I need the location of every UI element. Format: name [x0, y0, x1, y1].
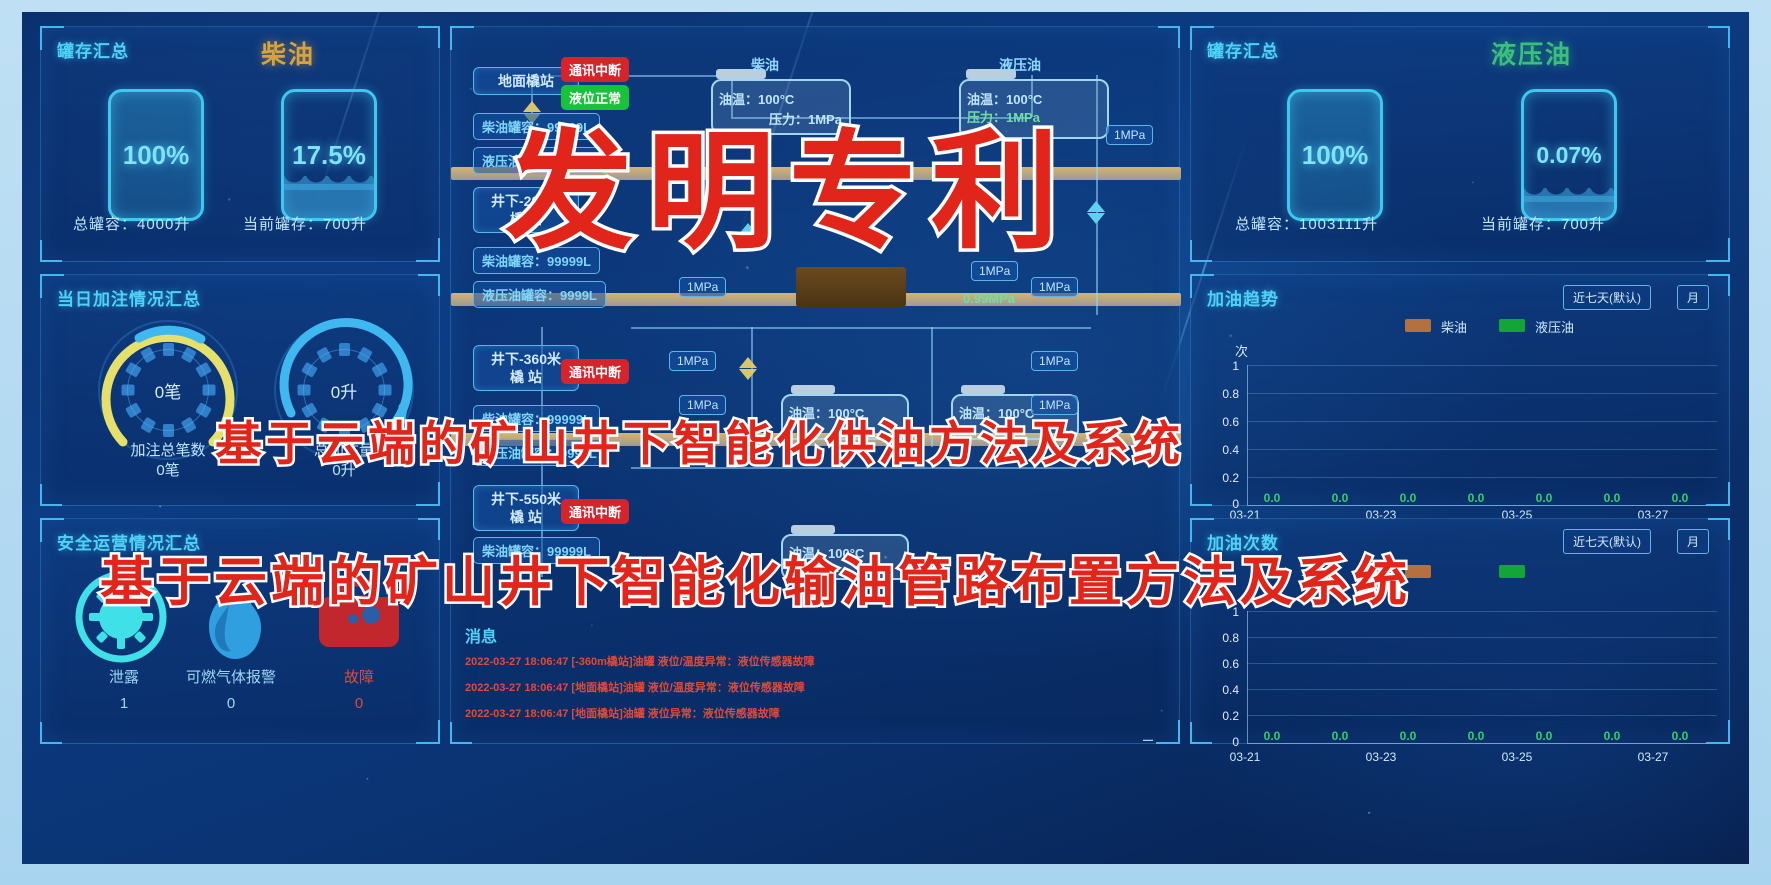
y-axis-line: [1247, 365, 1248, 505]
point-label: 0.0: [1529, 729, 1559, 743]
grid-line: [1247, 663, 1717, 664]
y-tick: 0: [1205, 735, 1239, 749]
tank-total-caption: 总罐容：4000升: [73, 213, 190, 234]
safety-label-gas-alarm: 可燃气体报警: [171, 666, 291, 687]
panel-right-tank-summary: 罐存汇总 液压油 100% 总罐容：1003111升 0.07% 当前罐存：70…: [1190, 26, 1730, 262]
tank-current-caption: 当前罐存：700升: [243, 213, 367, 234]
station-cap-hydraulic: 液压油罐容：9999L: [473, 281, 606, 308]
station-name-line2: 橇 站: [482, 368, 570, 386]
message-row: 2022-03-27 18:06:47 [地面橇站]油罐 液位异常：液位传感器故…: [465, 705, 780, 721]
grid-line: [1247, 393, 1717, 394]
pressure-tag: 1MPa: [1031, 351, 1078, 371]
product-label-hydraulic: 液压油: [1491, 35, 1572, 71]
pressure-tag: 1MPa: [1106, 125, 1153, 145]
point-label: 0.0: [1461, 729, 1491, 743]
tank-wave: [284, 176, 377, 190]
watermark-title-line-2: 基于云端的矿山井下智能化输油管路布置方法及系统: [100, 540, 1411, 616]
tank-total-capacity-right: 100%: [1287, 89, 1383, 221]
station-name-line2: 橇 站: [482, 508, 570, 526]
pipe-segment: [631, 327, 1091, 329]
pressure-tag: 1MPa: [669, 351, 716, 371]
legend-swatch-hydraulic-2: [1499, 565, 1525, 578]
pressure-tag: 1MPa: [679, 277, 726, 297]
point-label: 0.0: [1597, 491, 1627, 505]
safety-count-fault: 0: [299, 695, 419, 712]
y-tick: 1: [1205, 359, 1239, 373]
point-label: 0.0: [1325, 729, 1355, 743]
pressure-tag: 1MPa: [1031, 277, 1078, 297]
legend-swatch-hydraulic: [1499, 319, 1525, 332]
grid-line: [1247, 477, 1717, 478]
point-label: 0.0: [1393, 729, 1423, 743]
message-row: 2022-03-27 18:06:47 [地面橇站]油罐 液位/温度异常：液位传…: [465, 679, 805, 695]
point-label: 0.0: [1461, 491, 1491, 505]
range-button-month[interactable]: 月: [1677, 285, 1709, 310]
collapse-icon[interactable]: –: [1143, 729, 1153, 750]
valve-icon: [739, 357, 757, 368]
tank-total-caption-right: 总罐容：1003111升: [1235, 213, 1378, 234]
x-axis-line: [1247, 505, 1717, 506]
valve-icon: [1087, 201, 1105, 212]
point-label: 0.0: [1393, 491, 1423, 505]
legend-label-hydraulic: 液压油: [1535, 317, 1574, 336]
messages-title: 消息: [465, 623, 497, 647]
tank-current-value-right: 0.07%: [1536, 142, 1601, 169]
tank-group-label-diesel: 柴油: [751, 55, 779, 75]
station-name-line1: 井下-550米: [482, 490, 570, 508]
valve-icon: [1087, 213, 1105, 224]
station-badge-comm-loss: 通讯中断: [561, 57, 629, 82]
panel-title-tank-summary: 罐存汇总: [57, 37, 129, 62]
panel-left-tank-summary: 罐存汇总 柴油 100% 总罐容：4000升 17.5% 当前罐存：700升: [40, 26, 440, 262]
y-tick: 0.2: [1205, 709, 1239, 723]
grid-line: [1247, 689, 1717, 690]
legend-swatch-diesel: [1405, 319, 1431, 332]
panel-refuel-trend-chart: 加油趋势 近七天(默认) 月 柴油 液压油 次 1 0.8 0.6 0.4 0.…: [1190, 274, 1730, 506]
y-axis-unit-trend: 次: [1235, 341, 1248, 360]
point-label: 0.0: [1325, 491, 1355, 505]
y-tick: 0.8: [1205, 387, 1239, 401]
x-tick: 03-25: [1494, 750, 1540, 764]
y-axis-line: [1247, 611, 1248, 743]
range-button-month-2[interactable]: 月: [1677, 529, 1709, 554]
screenshot-stage: 罐存汇总 柴油 100% 总罐容：4000升 17.5% 当前罐存：700升 当…: [0, 0, 1771, 885]
x-tick: 03-23: [1358, 750, 1404, 764]
tank-wave: [1524, 188, 1617, 202]
grid-line: [1247, 715, 1717, 716]
pressure-tag-099: 0.99MPa: [963, 291, 1015, 306]
point-label: 0.0: [1597, 729, 1627, 743]
safety-label-leak: 泄露: [64, 666, 184, 687]
station-badge-comm-loss: 通讯中断: [561, 359, 629, 384]
grid-line: [1247, 449, 1717, 450]
tank-current-stock-right: 0.07%: [1521, 89, 1617, 221]
tank-current-stock: 17.5%: [281, 89, 377, 221]
tank-cap-icon: [961, 385, 1005, 394]
tank-total-capacity: 100%: [108, 89, 204, 221]
tank-cap-icon: [791, 385, 835, 394]
y-tick: 0.6: [1205, 657, 1239, 671]
station-badge-comm-loss: 通讯中断: [561, 499, 629, 524]
panel-title-tank-summary-right: 罐存汇总: [1207, 37, 1279, 62]
tank-total-value-right: 100%: [1302, 140, 1369, 171]
y-tick: 0.6: [1205, 415, 1239, 429]
tank-cap-icon: [791, 525, 835, 534]
grid-line: [1247, 637, 1717, 638]
y-tick: 0.8: [1205, 631, 1239, 645]
range-button-seven-days[interactable]: 近七天(默认): [1563, 285, 1651, 310]
safety-count-gas-alarm: 0: [171, 695, 291, 712]
ground-mound: [796, 267, 906, 307]
safety-label-fault: 故障: [299, 666, 419, 687]
safety-count-leak: 1: [64, 695, 184, 712]
watermark-title-line-1: 基于云端的矿山井下智能化供油方法及系统: [215, 405, 1184, 474]
product-label-diesel: 柴油: [261, 35, 315, 71]
x-tick: 03-27: [1630, 750, 1676, 764]
range-button-seven-days-2[interactable]: 近七天(默认): [1563, 529, 1651, 554]
x-tick: 03-21: [1222, 750, 1268, 764]
tank-current-caption-right: 当前罐存：700升: [1481, 213, 1605, 234]
point-label: 0.0: [1665, 729, 1695, 743]
tank-total-value: 100%: [123, 140, 190, 171]
station-name-line1: 井下-360米: [482, 350, 570, 368]
panel-title-daily-refuel: 当日加注情况汇总: [57, 285, 201, 310]
grid-line: [1247, 365, 1717, 366]
point-label: 0.0: [1257, 729, 1287, 743]
legend-label-diesel: 柴油: [1441, 317, 1467, 336]
watermark-patent-badge: 发明专利: [505, 88, 1073, 273]
point-label: 0.0: [1529, 491, 1559, 505]
y-tick: 0.4: [1205, 683, 1239, 697]
point-label: 0.0: [1665, 491, 1695, 505]
y-tick: 0.4: [1205, 443, 1239, 457]
panel-title-refuel-trend: 加油趋势: [1207, 285, 1279, 310]
x-axis-line: [1247, 743, 1717, 744]
valve-icon: [739, 369, 757, 380]
point-label: 0.0: [1257, 491, 1287, 505]
tank-current-value: 17.5%: [292, 140, 366, 171]
y-tick: 0.2: [1205, 471, 1239, 485]
tank-group-label-hydraulic: 液压油: [999, 55, 1041, 75]
grid-line: [1247, 421, 1717, 422]
message-row: 2022-03-27 18:06:47 [-360m橇站]油罐 液位/温度异常：…: [465, 653, 815, 669]
